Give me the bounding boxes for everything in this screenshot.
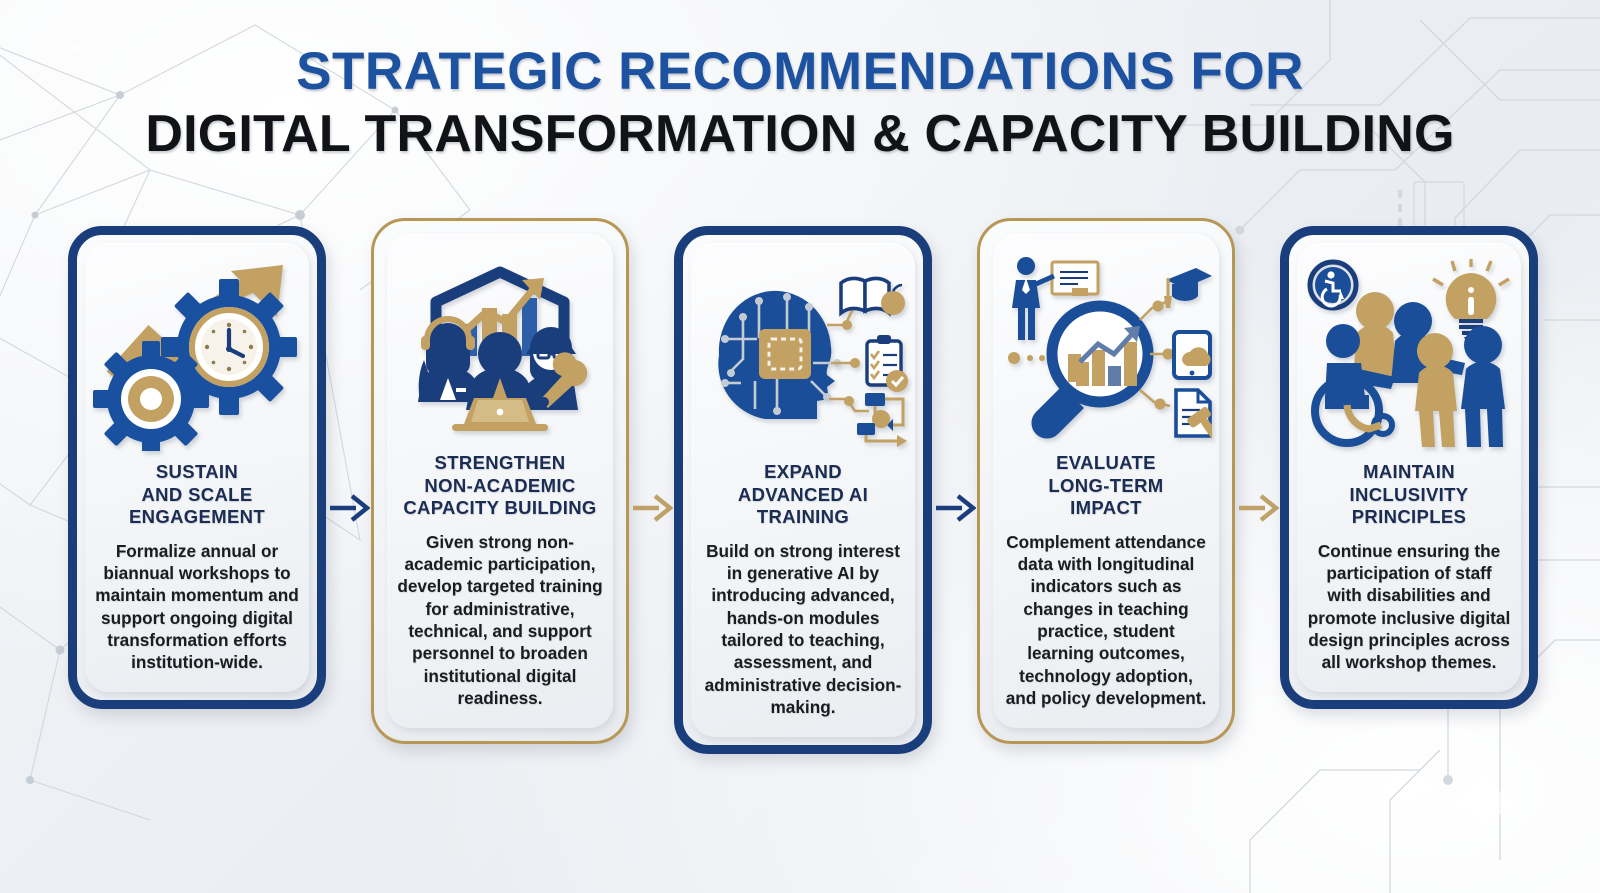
recommendation-card-maintain-inclusivity-principles[interactable]: MAINTAIN INCLUSIVITY PRINCIPLES Continue… (1280, 226, 1538, 709)
page-title: STRATEGIC RECOMMENDATIONS FOR DIGITAL TR… (0, 44, 1600, 162)
card-title: EXPAND ADVANCED AI TRAINING (738, 461, 868, 529)
recommendation-card-row: SUSTAIN AND SCALE ENGAGEMENT Formalize a… (68, 218, 1538, 798)
card-body: Formalize annual or biannual workshops t… (95, 540, 299, 674)
card-body: Continue ensuring the participation of s… (1307, 540, 1511, 674)
title-line-primary: STRATEGIC RECOMMENDATIONS FOR (0, 44, 1600, 100)
arrow-slot-4 (1235, 218, 1280, 798)
card-slot-1: SUSTAIN AND SCALE ENGAGEMENT Formalize a… (68, 218, 326, 709)
card-body: Given strong non-academic participation,… (397, 531, 603, 710)
arrow-slot-1 (326, 218, 371, 798)
card-title: STRENGTHEN NON-ACADEMIC CAPACITY BUILDIN… (403, 452, 596, 520)
card-inner: MAINTAIN INCLUSIVITY PRINCIPLES Continue… (1297, 243, 1521, 692)
recommendation-card-strengthen-non-academic-capacity-building[interactable]: STRENGTHEN NON-ACADEMIC CAPACITY BUILDIN… (371, 218, 629, 744)
card-slot-3: EXPAND ADVANCED AI TRAINING Build on str… (674, 218, 932, 754)
card-body: Build on strong interest in generative A… (701, 540, 905, 719)
card-inner: EVALUATE LONG-TERM IMPACT Complement att… (993, 234, 1219, 728)
card-slot-2: STRENGTHEN NON-ACADEMIC CAPACITY BUILDIN… (371, 218, 629, 744)
card-title: SUSTAIN AND SCALE ENGAGEMENT (129, 461, 265, 529)
arrow-right-icon-3 (934, 491, 976, 525)
recommendation-card-sustain-and-scale-engagement[interactable]: SUSTAIN AND SCALE ENGAGEMENT Formalize a… (68, 226, 326, 709)
card-inner: EXPAND ADVANCED AI TRAINING Build on str… (691, 243, 915, 737)
infographic-canvas: STRATEGIC RECOMMENDATIONS FOR DIGITAL TR… (0, 0, 1600, 893)
ai-brain-chip-head-icon (697, 259, 909, 451)
card-title: EVALUATE LONG-TERM IMPACT (1048, 452, 1163, 520)
arrow-slot-2 (629, 218, 674, 798)
card-body: Complement attendance data with longitud… (1003, 531, 1209, 710)
card-title: MAINTAIN INCLUSIVITY PRINCIPLES (1350, 461, 1469, 529)
staff-team-shield-chart-icon (394, 250, 606, 442)
card-inner: STRENGTHEN NON-ACADEMIC CAPACITY BUILDIN… (387, 234, 613, 728)
card-slot-5: MAINTAIN INCLUSIVITY PRINCIPLES Continue… (1280, 218, 1538, 709)
magnifier-chart-analysis-icon (1000, 250, 1212, 442)
recommendation-card-expand-advanced-ai-training[interactable]: EXPAND ADVANCED AI TRAINING Build on str… (674, 226, 932, 754)
card-inner: SUSTAIN AND SCALE ENGAGEMENT Formalize a… (85, 243, 309, 692)
arrow-right-icon-1 (328, 491, 370, 525)
accessibility-inclusive-people-icon (1303, 259, 1515, 451)
card-slot-4: EVALUATE LONG-TERM IMPACT Complement att… (977, 218, 1235, 744)
recommendation-card-evaluate-long-term-impact[interactable]: EVALUATE LONG-TERM IMPACT Complement att… (977, 218, 1235, 744)
gears-clock-growth-arrow-icon (91, 259, 303, 451)
arrow-right-icon-4 (1237, 491, 1279, 525)
title-line-secondary: DIGITAL TRANSFORMATION & CAPACITY BUILDI… (0, 106, 1600, 162)
arrow-slot-3 (932, 218, 977, 798)
arrow-right-icon-2 (631, 491, 673, 525)
